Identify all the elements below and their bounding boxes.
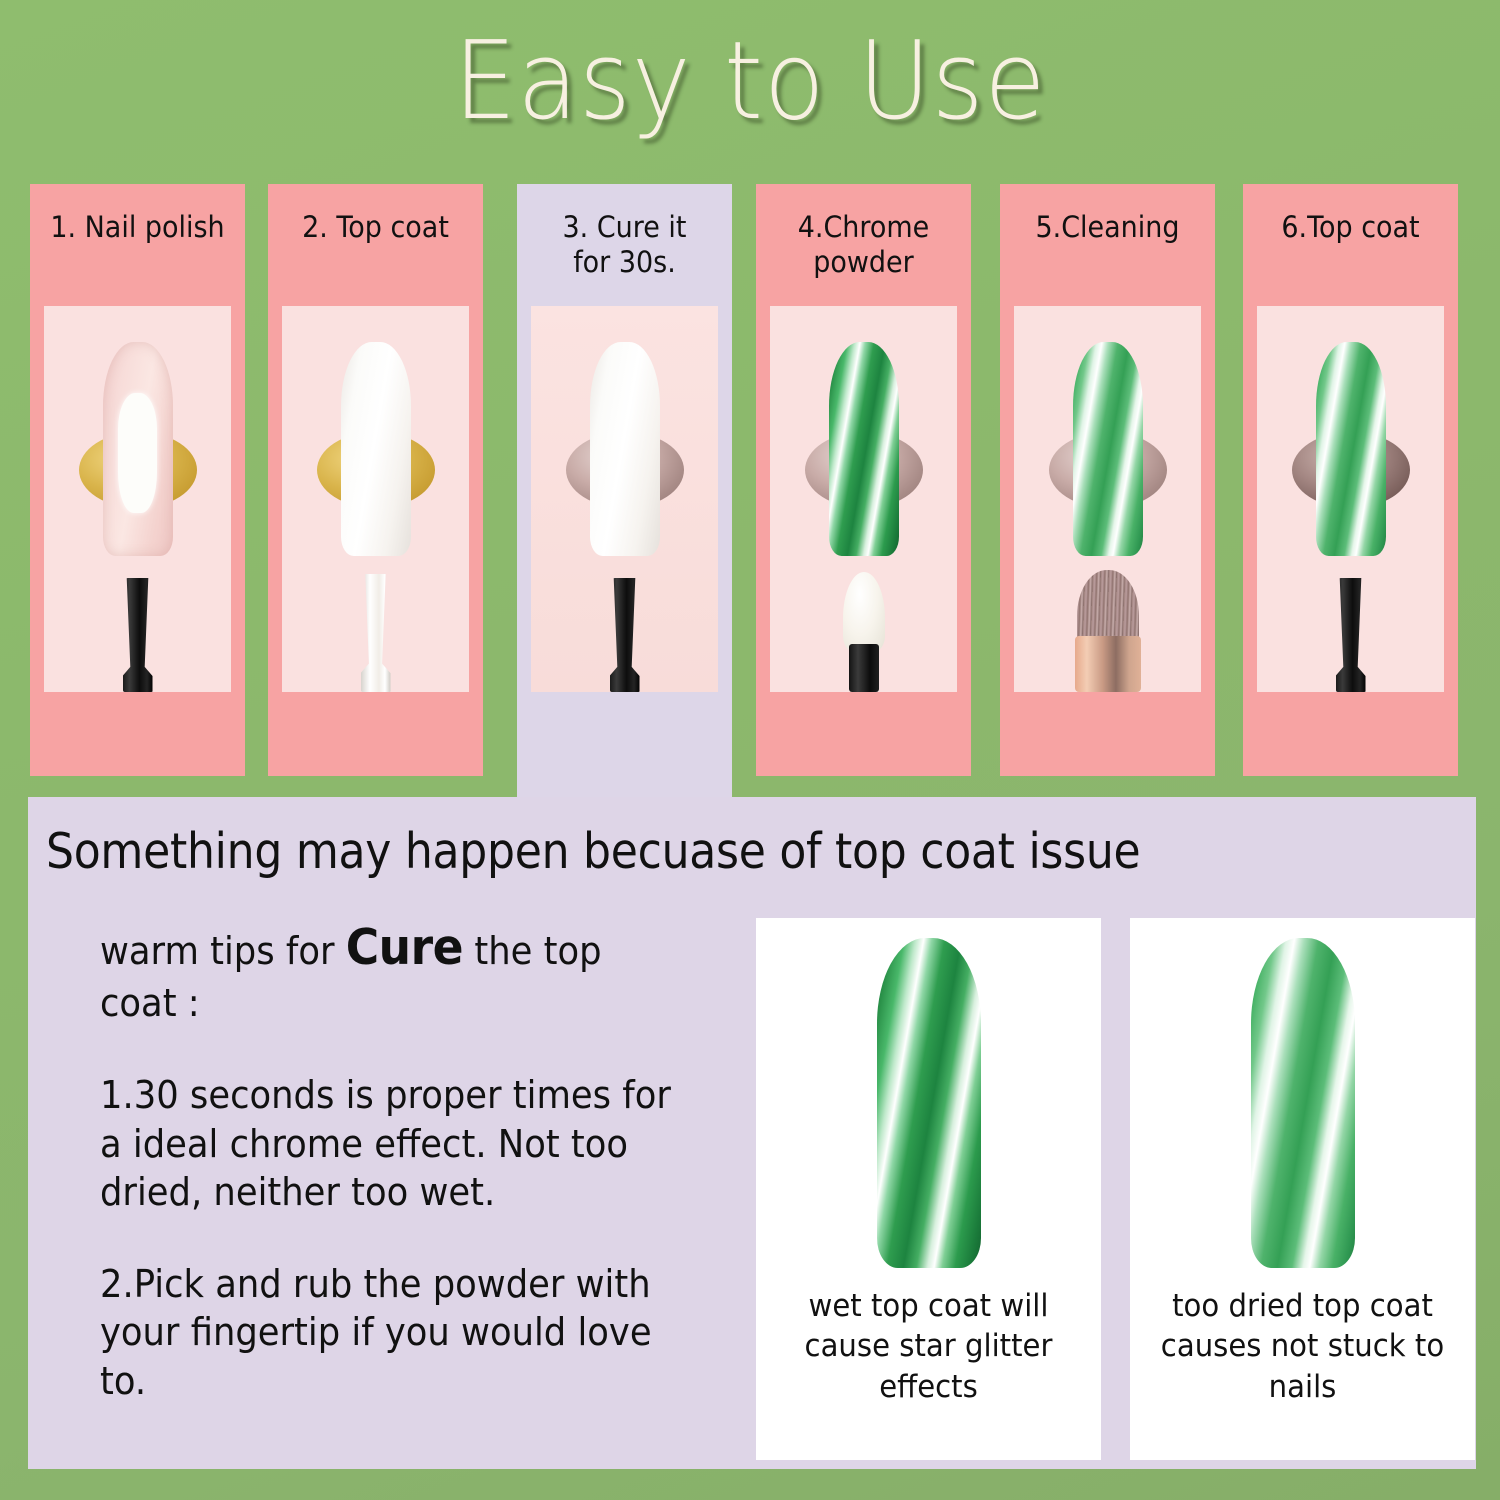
nail-muted-green-chrome [1251,938,1355,1268]
nail-green-chrome [1073,342,1143,556]
black-polish-brush-icon [1336,578,1366,692]
step-card-5: 5.Cleaning [1000,184,1215,776]
issue-heading: Something may happen becuase of top coat… [46,823,1317,880]
tips-column: warm tips for Cure the top coat : 1.30 s… [100,917,740,1405]
step-photo-6 [1257,306,1444,692]
example-card-dried-top-coat: too dried top coat causes not stuck to n… [1130,918,1475,1460]
infographic-root: Easy to Use 1. Nail polish 2. Top coat 3… [0,0,1500,1500]
example-card-wet-top-coat: wet top coat will cause star glitter eff… [756,918,1101,1460]
nail-clear-pink [103,342,173,556]
step-label-5: 5.Cleaning [1011,210,1204,245]
step-photo-2 [282,306,469,692]
step-label-6: 6.Top coat [1254,210,1447,245]
example-caption-1: wet top coat will cause star glitter eff… [774,1286,1083,1407]
sponge-applicator-icon [841,572,887,692]
tips-intro-after: the top [463,929,601,973]
black-polish-brush-icon [610,578,640,692]
step-photo-1 [44,306,231,692]
step-card-3: 3. Cure it for 30s. [517,184,732,804]
nail-white-coat [341,342,411,556]
tips-paragraph-2: 2.Pick and rub the powder with your fing… [100,1260,695,1405]
step-card-4: 4.Chrome powder [756,184,971,776]
step-photo-5 [1014,306,1201,692]
tips-intro-emphasis: Cure [346,919,463,976]
white-polish-brush-icon [361,574,391,692]
tips-intro-line2: coat : [100,981,200,1025]
step-label-3: 3. Cure it for 30s. [528,210,721,281]
tips-intro: warm tips for Cure the top coat : [100,917,695,1027]
example-photo-1 [756,918,1101,1300]
step-photo-3 [531,306,718,692]
step-card-1: 1. Nail polish [30,184,245,776]
step-label-4: 4.Chrome powder [767,210,960,281]
example-photo-2 [1130,918,1475,1300]
step-card-2: 2. Top coat [268,184,483,776]
issue-panel: Something may happen becuase of top coat… [28,797,1476,1469]
page-title: Easy to Use [60,22,1440,143]
step-label-1: 1. Nail polish [41,210,234,245]
nail-bright-green-chrome [877,938,981,1268]
nail-green-chrome [1316,342,1386,556]
black-polish-brush-icon [123,578,153,692]
tips-intro-before: warm tips for [100,929,346,973]
white-polish-blob [118,393,157,513]
example-caption-2: too dried top coat causes not stuck to n… [1148,1286,1457,1407]
fluffy-brush-icon [1071,570,1145,692]
nail-cured-white [590,342,660,556]
step-card-6: 6.Top coat [1243,184,1458,776]
nail-green-chrome [829,342,899,556]
tips-paragraph-1: 1.30 seconds is proper times for a ideal… [100,1071,695,1216]
step-label-2: 2. Top coat [279,210,472,245]
step-photo-4 [770,306,957,692]
